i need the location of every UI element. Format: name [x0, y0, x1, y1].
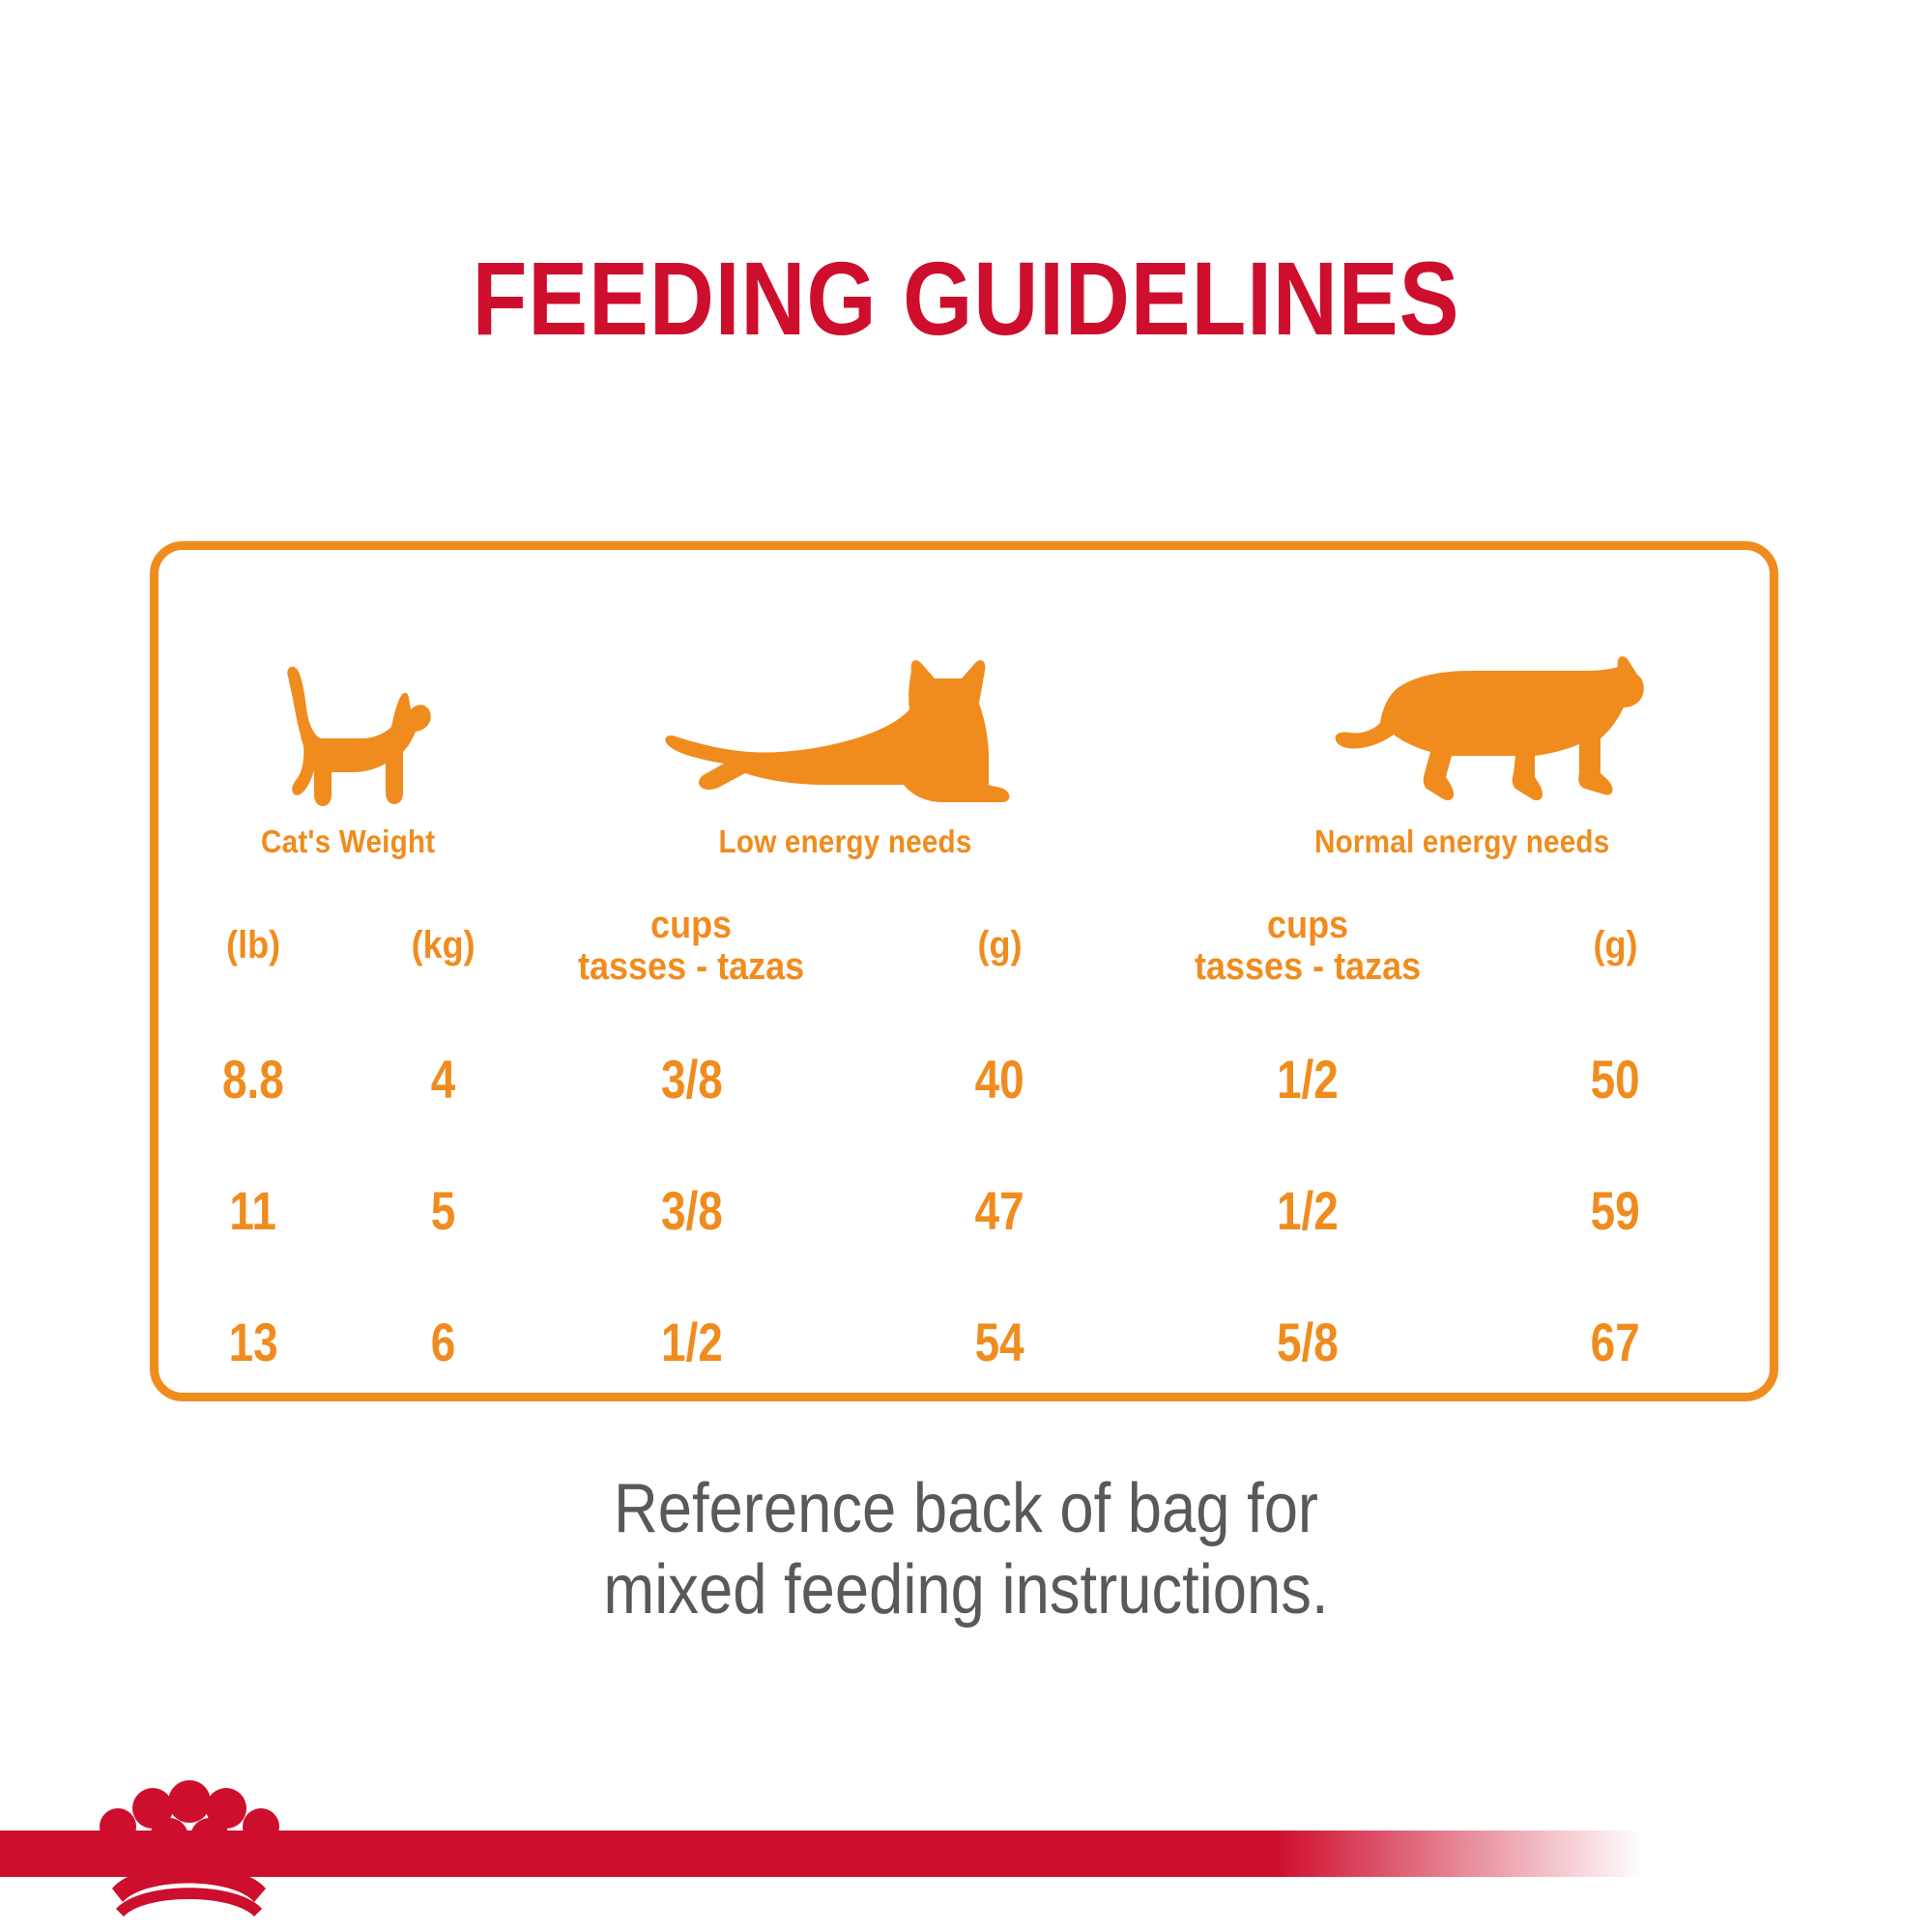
unit-label-lb: (lb): [226, 925, 280, 966]
value-normal-cups: 1/2: [1277, 1184, 1339, 1238]
cell-lb: 11: [159, 1145, 348, 1277]
cell-lb: 13: [159, 1277, 348, 1408]
table-row: 8.8 4 3/8 40 1/2 50: [159, 1014, 1770, 1145]
cell-lb: 8.8: [159, 1014, 348, 1145]
cell-kg: 5: [348, 1145, 537, 1277]
cell-normal-g: 59: [1461, 1145, 1770, 1277]
unit-cell-low-g: (g): [846, 879, 1154, 1014]
group-label-cat-weight: Cat's Weight: [261, 825, 435, 857]
unit-label-cups-normal: cups: [1195, 905, 1421, 946]
unit-label-cups-low: cups: [578, 905, 804, 946]
unit-cell-low-cups: cups tasses - tazas: [537, 879, 846, 1014]
royal-canin-crown-logo: [97, 1776, 280, 1919]
value-normal-cups: 1/2: [1277, 1053, 1339, 1107]
value-low-cups: 1/2: [661, 1315, 723, 1370]
value-kg: 4: [430, 1053, 455, 1107]
cell-kg: 6: [348, 1277, 537, 1408]
group-label-low-energy: Low energy needs: [719, 825, 972, 857]
cell-low-cups: 1/2: [537, 1277, 846, 1408]
value-kg: 6: [430, 1315, 455, 1370]
cell-low-g: 40: [846, 1014, 1154, 1145]
value-normal-cups: 5/8: [1277, 1315, 1339, 1370]
cell-kg: 4: [348, 1014, 537, 1145]
value-low-cups: 3/8: [661, 1053, 723, 1107]
footer-note-line1: Reference back of bag for: [116, 1469, 1816, 1550]
value-low-g: 54: [975, 1315, 1024, 1370]
unit-cell-normal-g: (g): [1461, 879, 1770, 1014]
table-group-header-row: Cat's Weight Low energy needs Normal ene…: [159, 550, 1770, 879]
unit-cell-lb: (lb): [159, 879, 348, 1014]
cell-normal-cups: 1/2: [1154, 1014, 1462, 1145]
cell-low-cups: 3/8: [537, 1014, 846, 1145]
group-header-normal-energy: Normal energy needs: [1154, 550, 1770, 879]
page-title: FEEDING GUIDELINES: [135, 246, 1797, 351]
value-kg: 5: [430, 1184, 455, 1238]
feeding-guidelines-table: Cat's Weight Low energy needs Normal ene…: [150, 541, 1778, 1401]
group-label-normal-energy: Normal energy needs: [1314, 825, 1609, 857]
value-normal-g: 59: [1591, 1184, 1640, 1238]
value-normal-g: 67: [1591, 1315, 1640, 1370]
value-lb: 8.8: [222, 1053, 284, 1107]
cell-low-cups: 3/8: [537, 1145, 846, 1277]
table-units-row: (lb) (kg) cups tasses - tazas (g) cups t…: [159, 879, 1770, 1014]
cell-low-g: 47: [846, 1145, 1154, 1277]
value-lb: 13: [229, 1315, 278, 1370]
group-header-low-energy: Low energy needs: [537, 550, 1153, 879]
value-low-g: 40: [975, 1053, 1024, 1107]
footer-note: Reference back of bag for mixed feeding …: [116, 1469, 1816, 1630]
cell-normal-g: 67: [1461, 1277, 1770, 1408]
value-low-cups: 3/8: [661, 1184, 723, 1238]
group-header-cat-weight: Cat's Weight: [159, 550, 537, 879]
cell-low-g: 54: [846, 1277, 1154, 1408]
table-row: 13 6 1/2 54 5/8 67: [159, 1277, 1770, 1408]
lying-cat-icon: [652, 649, 1039, 814]
unit-label-g-low: (g): [977, 925, 1022, 966]
walking-cat-icon: [1278, 649, 1645, 814]
footer-note-line2: mixed feeding instructions.: [116, 1550, 1816, 1631]
unit-cell-normal-cups: cups tasses - tazas: [1154, 879, 1462, 1014]
unit-label-g-normal: (g): [1594, 925, 1638, 966]
cell-normal-cups: 1/2: [1154, 1145, 1462, 1277]
unit-cell-kg: (kg): [348, 879, 537, 1014]
cell-normal-cups: 5/8: [1154, 1277, 1462, 1408]
value-low-g: 47: [975, 1184, 1024, 1238]
unit-label-tasses-normal: tasses - tazas: [1195, 946, 1421, 988]
standing-cat-icon: [256, 649, 440, 814]
table-row: 11 5 3/8 47 1/2 59: [159, 1145, 1770, 1277]
value-lb: 11: [230, 1184, 277, 1238]
value-normal-g: 50: [1591, 1053, 1640, 1107]
unit-label-tasses-low: tasses - tazas: [578, 946, 804, 988]
cell-normal-g: 50: [1461, 1014, 1770, 1145]
unit-label-kg: (kg): [411, 925, 475, 966]
